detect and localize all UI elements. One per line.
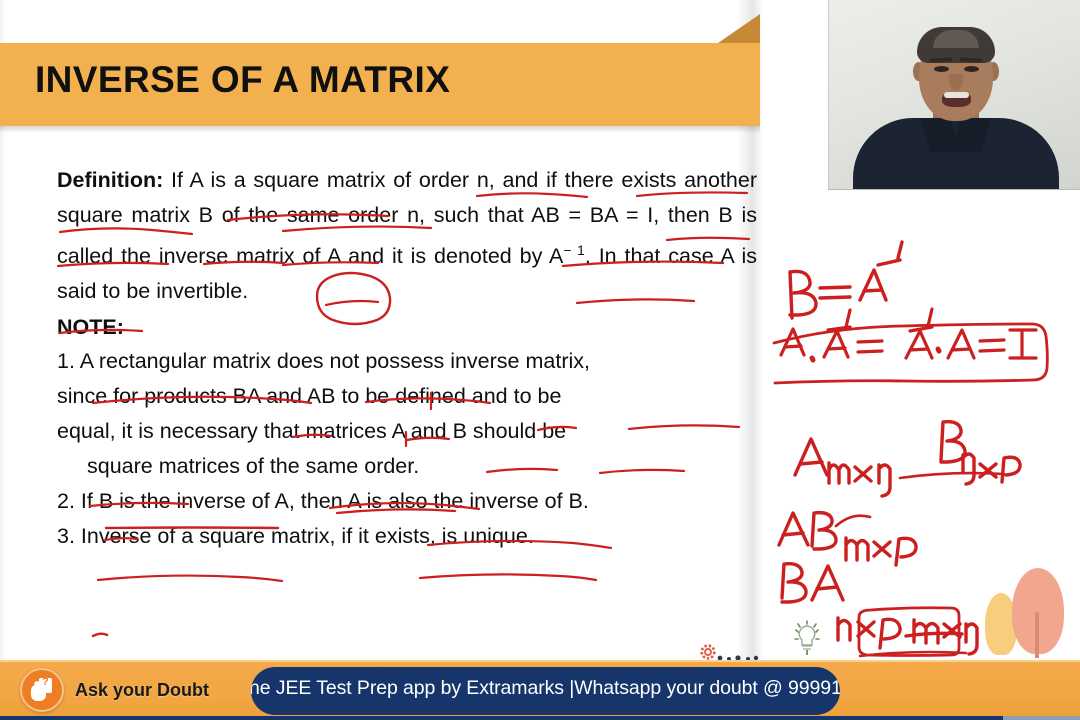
hw-times1 — [855, 467, 871, 481]
hw-n1 — [879, 465, 890, 496]
note-3-number: 3. — [57, 524, 75, 548]
ask-your-doubt-label: Ask your Doubt — [75, 680, 209, 701]
underline-note3-right — [420, 574, 596, 580]
bottom-accent-line — [0, 716, 1080, 720]
promo-ticker-text: he JEE Test Prep app by Extramarks |What… — [251, 677, 840, 700]
note-2: 2. If B is the inverse of A, then A is a… — [57, 484, 757, 519]
note-1-number: 1. — [57, 349, 75, 373]
stray-ink-mark — [93, 634, 107, 636]
handwriting-b-equals-a-inverse — [790, 242, 902, 318]
definition-exponent: − 1 — [563, 243, 584, 258]
note-3-text: Inverse of a square matrix, if it exists… — [81, 524, 534, 548]
note-heading: NOTE: — [57, 311, 757, 344]
definition-label: Definition: — [57, 168, 163, 192]
note-1: 1. A rectangular matrix does not possess… — [57, 344, 757, 484]
bottom-accent-line-right — [1003, 716, 1080, 720]
handwriting-boxed-identity — [774, 309, 1047, 383]
handwriting-dimension-notes — [795, 422, 1020, 496]
note-1-line2: since for products BA and AB to be defin… — [57, 384, 561, 408]
gear-icon — [699, 643, 717, 661]
video-teeth — [944, 92, 969, 98]
lightbulb-icon — [794, 620, 820, 656]
video-nose — [949, 74, 963, 90]
note-1-line1: A rectangular matrix does not possess in… — [80, 349, 590, 373]
hw-B — [941, 422, 965, 462]
instructor-video-feed[interactable] — [828, 0, 1080, 190]
hw-A — [795, 439, 827, 475]
hw-p1 — [1002, 457, 1020, 482]
hw-underline-dims — [900, 473, 1004, 478]
ribbon-fold-decoration — [718, 14, 760, 43]
slide-body: Definition: If A is a square matrix of o… — [57, 163, 757, 554]
note-3: 3. Inverse of a square matrix, if it exi… — [57, 519, 757, 554]
note-2-number: 2. — [57, 489, 75, 513]
hw-n2 — [963, 454, 974, 484]
title-ribbon-shadow — [0, 126, 760, 133]
ask-your-doubt-button[interactable]: Ask your Doubt — [20, 669, 209, 711]
video-shirt — [853, 118, 1059, 190]
handwriting-ab-dims — [779, 513, 916, 565]
decorative-tree-trunk — [1035, 612, 1039, 658]
definition-paragraph: Definition: If A is a square matrix of o… — [57, 163, 757, 309]
note-2-text: If B is the inverse of A, then A is also… — [81, 489, 589, 513]
underline-note3-left — [98, 576, 282, 581]
video-eye-left — [934, 66, 949, 72]
page-title: INVERSE OF A MATRIX — [35, 59, 450, 101]
bottom-bar-top-highlight — [0, 660, 1080, 662]
note-1-line4: square matrices of the same order. — [57, 454, 419, 478]
hw-m1 — [829, 463, 849, 483]
note-1-line3: equal, it is necessary that matrices A a… — [57, 419, 566, 443]
promo-ticker[interactable]: he JEE Test Prep app by Extramarks |What… — [251, 667, 840, 715]
video-eye-right — [964, 66, 979, 72]
hand-question-icon[interactable] — [20, 668, 64, 712]
lecture-screen: INVERSE OF A MATRIX Definition: If A is … — [0, 0, 1080, 720]
hw-times2 — [980, 464, 996, 477]
